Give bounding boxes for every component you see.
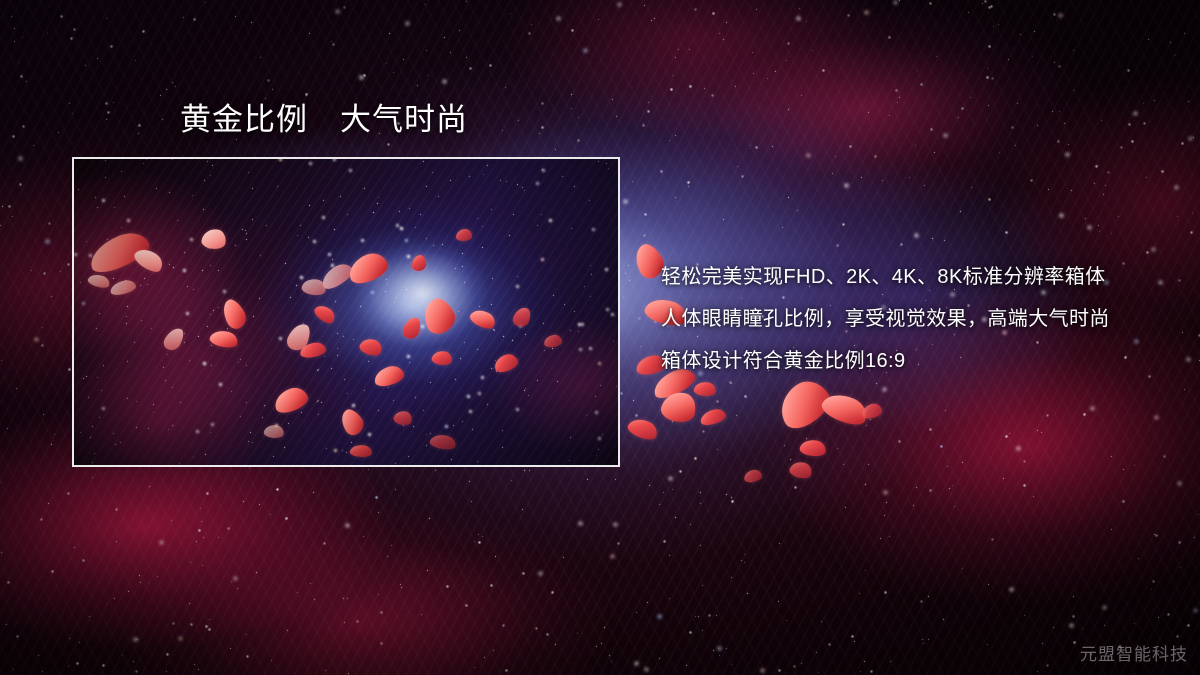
flower-petal bbox=[819, 388, 872, 430]
flower-petal bbox=[161, 325, 187, 354]
slide-canvas: 黄金比例 大气时尚 轻松完美实现FHD、2K、4K、8K标准分辨率箱体 人体眼睛… bbox=[0, 0, 1200, 675]
flower-petal bbox=[861, 402, 883, 420]
flower-petal bbox=[208, 328, 239, 350]
flower-petal bbox=[318, 260, 356, 293]
framed-image bbox=[72, 157, 620, 467]
flower-petal bbox=[543, 334, 562, 348]
flower-petal bbox=[85, 226, 154, 277]
flower-petal bbox=[401, 315, 423, 341]
flower-petal bbox=[511, 305, 533, 330]
flower-petal bbox=[693, 381, 717, 398]
flower-petal bbox=[492, 352, 520, 375]
flower-petal bbox=[345, 249, 391, 287]
flower-petal bbox=[284, 320, 314, 354]
flower-petal bbox=[109, 278, 137, 296]
flower-petal bbox=[312, 302, 338, 327]
flower-petal bbox=[392, 409, 413, 427]
flower-petal bbox=[412, 255, 426, 271]
flower-petal bbox=[372, 364, 405, 389]
picture-vignette bbox=[74, 159, 618, 465]
flower-petal bbox=[418, 294, 459, 337]
flower-petal bbox=[429, 432, 457, 451]
flower-petal bbox=[336, 406, 367, 439]
flower-petal bbox=[468, 306, 498, 332]
body-line: 人体眼睛瞳孔比例，享受视觉效果，高端大气时尚 bbox=[661, 298, 1161, 340]
flower-petal bbox=[699, 407, 728, 427]
picture-red-clouds bbox=[74, 159, 618, 465]
flower-petal bbox=[626, 415, 661, 444]
body-copy: 轻松完美实现FHD、2K、4K、8K标准分辨率箱体 人体眼睛瞳孔比例，享受视觉效… bbox=[661, 256, 1161, 382]
picture-starfield bbox=[74, 159, 618, 465]
flower-petal bbox=[431, 349, 453, 366]
flower-petal bbox=[358, 335, 384, 358]
flower-petal bbox=[456, 229, 472, 241]
watermark: 元盟智能科技 bbox=[1080, 640, 1188, 665]
flower-petal bbox=[799, 438, 827, 458]
flower-petal bbox=[743, 469, 762, 483]
flower-petal bbox=[299, 341, 327, 358]
inner-petal-field bbox=[74, 159, 618, 465]
flower-petal bbox=[87, 272, 112, 290]
flower-petal bbox=[349, 444, 372, 458]
flower-petal bbox=[788, 459, 814, 481]
flower-petal bbox=[301, 277, 328, 298]
picture-base-layer bbox=[74, 159, 618, 465]
flower-petal bbox=[271, 384, 310, 415]
flower-petal bbox=[200, 227, 227, 251]
flower-petal bbox=[263, 424, 285, 440]
page-title: 黄金比例 大气时尚 bbox=[180, 101, 468, 140]
flower-petal bbox=[132, 244, 167, 276]
picture-filaments bbox=[74, 159, 618, 465]
flower-petal bbox=[771, 373, 836, 434]
flower-petal bbox=[659, 388, 700, 426]
picture-core-glow bbox=[74, 159, 618, 465]
body-line: 箱体设计符合黄金比例16:9 bbox=[661, 340, 1161, 382]
body-line: 轻松完美实现FHD、2K、4K、8K标准分辨率箱体 bbox=[661, 256, 1161, 298]
flower-petal bbox=[218, 296, 250, 332]
